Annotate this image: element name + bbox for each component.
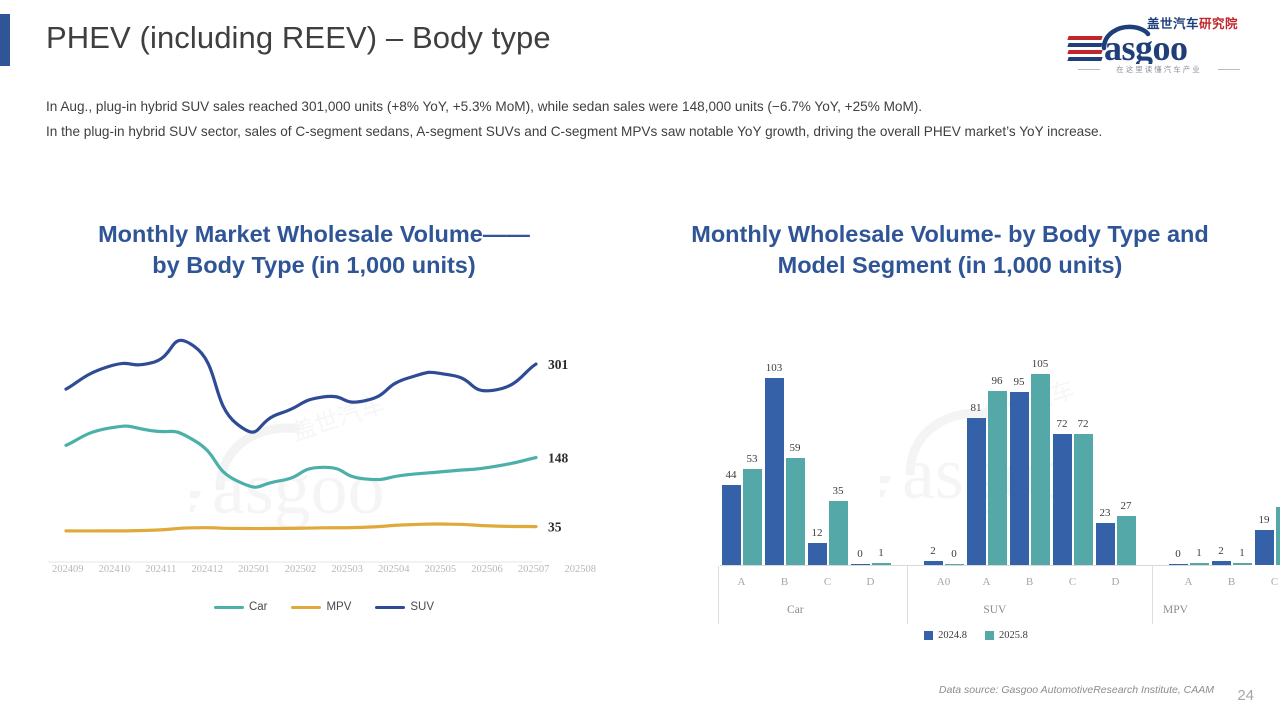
bar-value-label: 19	[1259, 514, 1270, 526]
bar-value-label: 53	[747, 453, 758, 465]
bar-pair-suv-d: 2327	[1094, 330, 1137, 565]
bar-chart-plot: 4453103591235012081969510572722327012119…	[720, 330, 1232, 565]
bar-legend-label: 2025.8	[999, 630, 1028, 641]
bar-segment-tick: A	[965, 568, 1008, 588]
bar-chart-segment-ticks: ABCDA0ABCDABC	[720, 568, 1232, 588]
line-x-tick: 202501	[238, 564, 270, 575]
bar-chart: 4453103591235012081969510572722327012119…	[712, 330, 1240, 650]
bar-value-label: 72	[1057, 418, 1068, 430]
bar-2025[interactable]: 53	[743, 469, 762, 565]
bar-tickgroup-suv: A0ABCD	[922, 568, 1137, 588]
bar-legend-item-2025-8[interactable]: 2025.8	[985, 630, 1028, 641]
bar-pair-suv-a0: 20	[922, 330, 965, 565]
right-chart-title: Monthly Wholesale Volume- by Body Type a…	[650, 219, 1250, 281]
bar-value-label: 0	[857, 548, 863, 560]
bar-2024[interactable]: 81	[967, 418, 986, 565]
bar-pair-mpv-c: 1932	[1253, 330, 1280, 565]
bar-group-separator	[907, 566, 908, 624]
bar-value-label: 35	[833, 485, 844, 497]
right-chart-title-line2: Model Segment (in 1,000 units)	[650, 250, 1250, 281]
left-chart-title-line2: by Body Type (in 1,000 units)	[44, 250, 584, 281]
line-chart: 30114835 2024092024102024112024122025012…	[44, 316, 604, 616]
bar-tickgroup-car: ABCD	[720, 568, 892, 588]
line-chart-legend: CarMPVSUV	[44, 601, 604, 613]
page-number: 24	[1237, 687, 1254, 704]
bar-2024[interactable]: 19	[1255, 530, 1274, 565]
line-legend-item-mpv[interactable]: MPV	[291, 601, 351, 613]
line-x-tick: 202502	[285, 564, 317, 575]
page-title: PHEV (including REEV) – Body type	[46, 20, 551, 56]
bar-value-label: 105	[1032, 358, 1049, 370]
line-legend-label: MPV	[326, 601, 351, 613]
bar-segment-tick: B	[1008, 568, 1051, 588]
bar-category-label-suv: SUV	[901, 598, 1089, 616]
right-chart-title-line1: Monthly Wholesale Volume- by Body Type a…	[650, 219, 1250, 250]
bar-group-suv: 2081969510572722327	[922, 330, 1137, 565]
line-x-tick: 202411	[145, 564, 176, 575]
bar-pair-car-b: 10359	[763, 330, 806, 565]
bar-group-separator	[718, 566, 719, 624]
bar-value-label: 23	[1100, 507, 1111, 519]
logo-tagline: 在这里读懂汽车产业	[1078, 64, 1240, 75]
bar-pair-car-a: 4453	[720, 330, 763, 565]
bar-value-label: 2	[1218, 545, 1224, 557]
line-series-car	[66, 426, 536, 487]
line-x-tick: 202508	[565, 564, 597, 575]
bar-category-label-mpv: MPV	[1119, 598, 1232, 616]
line-x-tick: 202506	[471, 564, 503, 575]
summary-line-2: In the plug-in hybrid SUV sector, sales …	[46, 119, 1238, 144]
summary-text: In Aug., plug-in hybrid SUV sales reache…	[46, 94, 1238, 144]
bar-2025[interactable]: 32	[1276, 507, 1280, 565]
bar-legend-item-2024-8[interactable]: 2024.8	[924, 630, 967, 641]
line-series-suv	[66, 340, 536, 432]
line-series-mpv	[66, 524, 536, 531]
line-x-tick: 202412	[192, 564, 224, 575]
line-legend-item-suv[interactable]: SUV	[375, 601, 434, 613]
legend-swatch-icon	[924, 631, 933, 640]
summary-line-1: In Aug., plug-in hybrid SUV sales reache…	[46, 94, 1238, 119]
line-end-label-mpv: 35	[548, 520, 562, 535]
bar-pair-car-d: 01	[849, 330, 892, 565]
left-chart-title-line1: Monthly Market Wholesale Volume——	[44, 219, 584, 250]
bar-pair-suv-a: 8196	[965, 330, 1008, 565]
line-legend-label: Car	[249, 601, 268, 613]
bar-pair-suv-c: 7272	[1051, 330, 1094, 565]
bar-tickgroup-mpv: ABC	[1167, 568, 1280, 588]
line-legend-label: SUV	[410, 601, 434, 613]
bar-value-label: 0	[951, 548, 957, 560]
bar-2025[interactable]: 1	[1233, 563, 1252, 565]
line-end-label-car: 148	[548, 451, 569, 466]
legend-swatch-icon	[214, 606, 244, 609]
legend-swatch-icon	[375, 606, 405, 609]
title-accent-bar	[0, 14, 10, 66]
bar-group-mpv: 01211932	[1167, 330, 1280, 565]
bar-2024[interactable]: 44	[722, 485, 741, 565]
svg-text:asgoo: asgoo	[1104, 28, 1188, 64]
line-x-tick: 202505	[425, 564, 457, 575]
bar-value-label: 103	[766, 362, 783, 374]
bar-group-car: 445310359123501	[720, 330, 892, 565]
bar-category-label-car: Car	[720, 598, 871, 616]
bar-segment-tick: C	[1253, 568, 1280, 588]
bar-chart-axis-line	[720, 565, 1232, 566]
line-x-tick: 202504	[378, 564, 410, 575]
bar-segment-tick: D	[849, 568, 892, 588]
line-chart-canvas: 30114835	[44, 316, 604, 566]
bar-value-label: 12	[812, 527, 823, 539]
bar-value-label: 72	[1078, 418, 1089, 430]
bar-value-label: 1	[1196, 547, 1202, 559]
bar-2025[interactable]: 72	[1074, 434, 1093, 565]
bar-value-label: 44	[726, 469, 737, 481]
line-x-tick: 202410	[99, 564, 131, 575]
bar-chart-legend: 2024.82025.8	[712, 630, 1240, 641]
bar-2024[interactable]: 12	[808, 543, 827, 565]
legend-swatch-icon	[985, 631, 994, 640]
bar-segment-tick: D	[1094, 568, 1137, 588]
bar-2024[interactable]: 72	[1053, 434, 1072, 565]
bar-value-label: 96	[992, 375, 1003, 387]
bar-segment-tick: A	[720, 568, 763, 588]
slide-root: PHEV (including REEV) – Body type 盖世汽车研究…	[0, 0, 1280, 720]
bar-value-label: 0	[1175, 548, 1181, 560]
line-x-tick: 202409	[52, 564, 84, 575]
bar-segment-tick: A	[1167, 568, 1210, 588]
bar-2024[interactable]: 103	[765, 378, 784, 565]
bar-value-label: 2	[930, 545, 936, 557]
bar-value-label: 1	[1239, 547, 1245, 559]
bar-2025[interactable]: 27	[1117, 516, 1136, 565]
bar-2025[interactable]: 96	[988, 391, 1007, 565]
line-legend-item-car[interactable]: Car	[214, 601, 268, 613]
bar-pair-car-c: 1235	[806, 330, 849, 565]
bar-segment-tick: A0	[922, 568, 965, 588]
line-x-tick: 202507	[518, 564, 550, 575]
bar-pair-suv-b: 95105	[1008, 330, 1051, 565]
bar-value-label: 95	[1014, 376, 1025, 388]
left-chart-title: Monthly Market Wholesale Volume—— by Bod…	[44, 219, 584, 281]
logo-g-swoosh-icon: asgoo	[1096, 22, 1246, 64]
bar-pair-mpv-b: 21	[1210, 330, 1253, 565]
bar-2024[interactable]: 95	[1010, 392, 1029, 565]
bar-segment-tick: B	[1210, 568, 1253, 588]
bar-2025[interactable]: 35	[829, 501, 848, 565]
logo-wordmark: asgoo	[1096, 22, 1246, 70]
bar-value-label: 1	[878, 547, 884, 559]
bar-2025[interactable]: 59	[786, 458, 805, 565]
line-x-tick: 202503	[331, 564, 363, 575]
bar-legend-label: 2024.8	[938, 630, 967, 641]
line-end-label-suv: 301	[548, 357, 569, 372]
bar-value-label: 59	[790, 442, 801, 454]
data-source-note: Data source: Gasgoo AutomotiveResearch I…	[939, 684, 1214, 696]
bar-value-label: 27	[1121, 500, 1132, 512]
bar-segment-tick: C	[806, 568, 849, 588]
bar-chart-category-row: CarSUVMPV	[720, 598, 1232, 616]
bar-pair-mpv-a: 01	[1167, 330, 1210, 565]
bar-segment-tick: B	[763, 568, 806, 588]
bar-segment-tick: C	[1051, 568, 1094, 588]
bar-value-label: 81	[971, 402, 982, 414]
bar-group-separator	[1152, 566, 1153, 624]
legend-swatch-icon	[291, 606, 321, 609]
bar-2024[interactable]: 23	[1096, 523, 1115, 565]
bar-2025[interactable]: 105	[1031, 374, 1050, 565]
line-chart-x-axis: 2024092024102024112024122025012025022025…	[52, 564, 596, 575]
gasgoo-logo: 盖世汽车研究院 asgoo 在这里读懂汽车产业	[1068, 10, 1240, 74]
